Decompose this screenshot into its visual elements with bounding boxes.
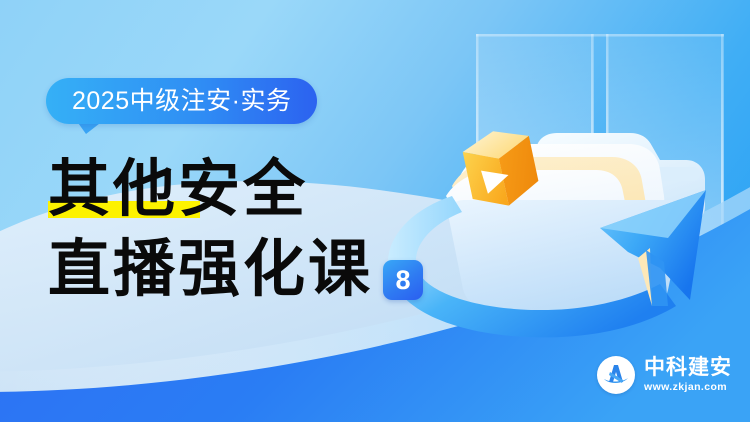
- course-poster: 2025中级注安·实务 其他安全 直播强化课 8 中科建安 www.zkjan.…: [0, 0, 750, 422]
- document-folder-icon: [446, 133, 705, 310]
- headline-block: 其他安全 直播强化课 8: [48, 152, 423, 304]
- episode-number-badge: 8: [383, 260, 423, 300]
- headline-line-1: 其他安全: [48, 156, 308, 222]
- play-cube-icon: [460, 124, 542, 212]
- course-category-label: 2025中级注安·实务: [72, 89, 291, 114]
- brand-name: 中科建安: [644, 357, 732, 378]
- mountain-peak-logo-icon: [597, 356, 635, 394]
- brand-logo: 中科建安 www.zkjan.com: [597, 356, 732, 394]
- circular-swoosh-arrow-icon: [388, 190, 706, 337]
- headline-line-2: 直播强化课: [48, 236, 373, 302]
- brand-text-block: 中科建安 www.zkjan.com: [644, 357, 732, 393]
- brand-url: www.zkjan.com: [644, 382, 732, 393]
- episode-number: 8: [396, 267, 411, 294]
- headline-row-1: 其他安全: [48, 152, 423, 222]
- course-category-badge: 2025中级注安·实务: [46, 78, 317, 124]
- background-panels-icon: [476, 34, 724, 354]
- headline-row-2: 直播强化课 8: [48, 234, 423, 304]
